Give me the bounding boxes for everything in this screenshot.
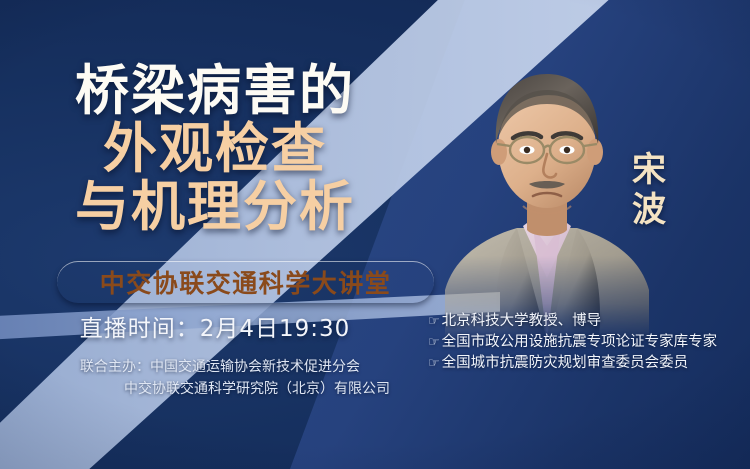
portrait-illustration: [437, 40, 657, 340]
organizer-line-2: 中交协联交通科学研究院（北京）有限公司: [0, 378, 440, 400]
speaker-credentials: ☞ 北京科技大学教授、博导 ☞ 全国市政公用设施抗震专项论证专家库专家 ☞ 全国…: [428, 311, 750, 374]
speaker-name-char-1: 宋: [626, 150, 672, 190]
webinar-poster: 桥梁病害的 外观检查 与机理分析 中交协联交通科学大讲堂 直播时间：2月4日19…: [0, 0, 750, 469]
credential-text: 全国城市抗震防灾规划审查委员会委员: [442, 353, 689, 373]
title-line-1: 桥梁病害的: [0, 62, 430, 120]
credential-text: 北京科技大学教授、博导: [442, 311, 602, 331]
portrait-mask: [437, 40, 657, 340]
title-line-3: 与机理分析: [0, 178, 430, 236]
speaker-portrait: [437, 40, 657, 340]
organizer-line-1: 联合主办：中国交通运输协会新技术促进分会: [0, 356, 440, 378]
series-badge: 中交协联交通科学大讲堂: [57, 261, 434, 303]
credential-text: 全国市政公用设施抗震专项论证专家库专家: [442, 332, 718, 352]
organizers: 联合主办：中国交通运输协会新技术促进分会 中交协联交通科学研究院（北京）有限公司: [0, 356, 440, 400]
pointing-hand-icon: ☞: [428, 312, 440, 332]
credential-item: ☞ 全国市政公用设施抗震专项论证专家库专家: [428, 332, 750, 353]
credential-item: ☞ 北京科技大学教授、博导: [428, 311, 750, 332]
pointing-hand-icon: ☞: [428, 354, 440, 374]
speaker-name: 宋 波: [626, 150, 672, 230]
speaker-name-char-2: 波: [626, 190, 672, 230]
live-time: 直播时间：2月4日19:30: [0, 309, 430, 343]
credential-item: ☞ 全国城市抗震防灾规划审查委员会委员: [428, 353, 750, 374]
poster-title: 桥梁病害的 外观检查 与机理分析: [0, 62, 430, 236]
title-line-2: 外观检查: [0, 120, 430, 178]
series-badge-label: 中交协联交通科学大讲堂: [100, 264, 392, 300]
pointing-hand-icon: ☞: [428, 333, 440, 353]
